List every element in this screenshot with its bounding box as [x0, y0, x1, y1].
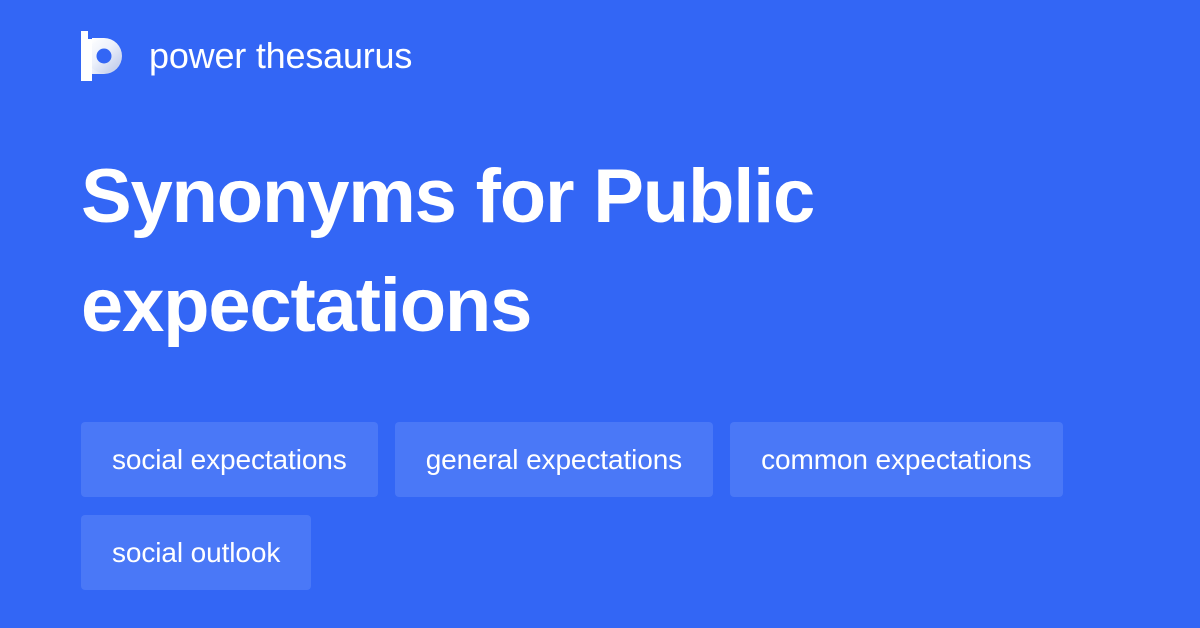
- brand-header[interactable]: power thesaurus: [81, 28, 412, 84]
- power-thesaurus-b-logo-icon: [81, 31, 127, 81]
- synonym-chip-label: general expectations: [426, 446, 682, 474]
- synonym-chip-label: social outlook: [112, 539, 280, 567]
- synonym-chip[interactable]: general expectations: [395, 422, 713, 497]
- brand-name: power thesaurus: [149, 38, 412, 74]
- synonym-chip[interactable]: social outlook: [81, 515, 311, 590]
- page-title: Synonyms for Public expectations: [81, 143, 1081, 360]
- synonym-chip[interactable]: social expectations: [81, 422, 378, 497]
- synonym-chip[interactable]: common expectations: [730, 422, 1062, 497]
- synonym-chip-list: social expectations general expectations…: [81, 422, 1121, 590]
- page-title-line-1: Synonyms for Public: [81, 143, 1081, 252]
- synonym-chip-label: social expectations: [112, 446, 347, 474]
- brand-word-power: power: [149, 35, 246, 76]
- page-title-line-2: expectations: [81, 252, 1081, 361]
- synonym-chip-label: common expectations: [761, 446, 1031, 474]
- brand-word-thesaurus: thesaurus: [256, 35, 412, 76]
